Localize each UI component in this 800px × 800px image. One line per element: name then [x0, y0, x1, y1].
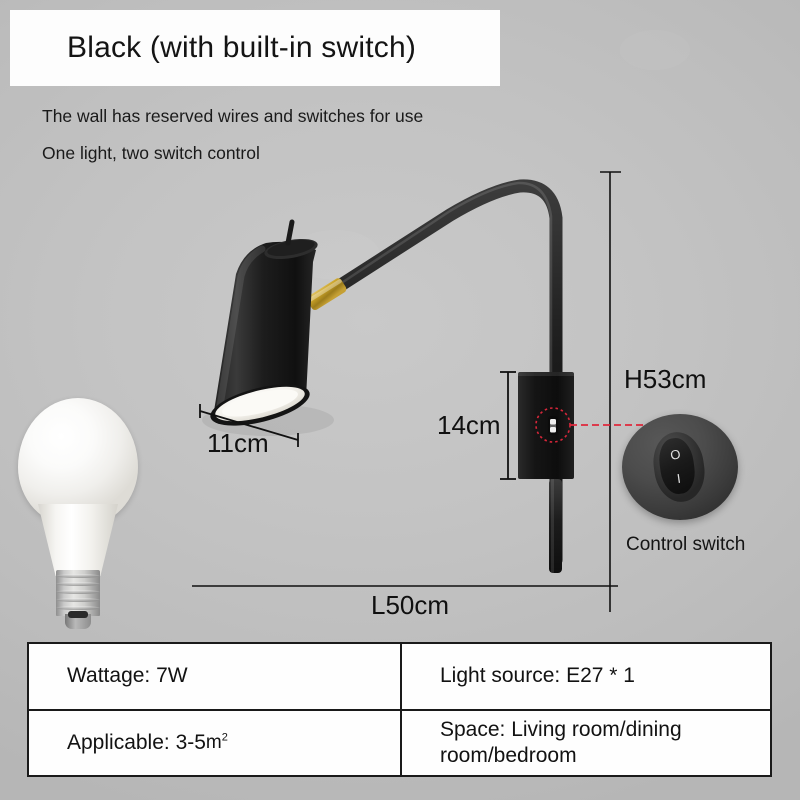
swan-neck-arm [330, 186, 556, 560]
dimension-label-total-length: L50cm [371, 590, 449, 621]
spec-applicable-area-text: Applicable: 3-5 [67, 730, 206, 756]
bulb-base-insulator [68, 611, 88, 618]
spec-space: Space: Living room/dining room/bedroom [402, 711, 770, 776]
brass-connector [305, 277, 347, 312]
table-row: Wattage: 7W Light source: E27 * 1 [29, 644, 770, 711]
vertical-rod [549, 479, 562, 573]
title-banner: Black (with built-in switch) [10, 10, 500, 86]
dimension-14cm [500, 372, 516, 479]
control-switch-label: Control switch [626, 534, 745, 556]
specification-table: Wattage: 7W Light source: E27 * 1 Applic… [27, 642, 772, 777]
spec-wattage: Wattage: 7W [29, 644, 402, 709]
e27-led-bulb [18, 398, 138, 630]
dimension-label-wall-plate-height: 14cm [437, 410, 501, 441]
table-row: Applicable: 3-5 m2 Space: Living room/di… [29, 711, 770, 776]
watermark-blob [620, 30, 690, 70]
spec-applicable-area: Applicable: 3-5 m2 [29, 711, 402, 776]
watermark-blob [290, 230, 380, 280]
bulb-screw-base [56, 570, 100, 616]
switch-off-mark: O [669, 447, 681, 461]
switch-on-mark: I [676, 471, 681, 484]
spec-light-source: Light source: E27 * 1 [402, 644, 770, 709]
bulb-neck [38, 504, 118, 576]
dimension-label-total-height: H53cm [624, 364, 706, 395]
page-title: Black (with built-in switch) [10, 31, 416, 65]
subtitle-line-2: One light, two switch control [42, 143, 260, 164]
shade-top-knob [288, 222, 292, 243]
spec-area-unit: m [206, 732, 222, 753]
black-wall-mount-plate [518, 372, 574, 479]
control-switch-graphic: O I [622, 414, 738, 524]
product-spec-diagram: Black (with built-in switch) The wall ha… [0, 0, 800, 800]
built-in-rocker-switch [550, 419, 556, 432]
subtitle-line-1: The wall has reserved wires and switches… [42, 106, 423, 127]
spec-area-unit-sup: 2 [222, 732, 228, 744]
dimension-h53cm [600, 172, 621, 612]
dimension-label-shade-width: 11cm [207, 428, 269, 459]
black-cone-lamp-shade [206, 222, 319, 434]
